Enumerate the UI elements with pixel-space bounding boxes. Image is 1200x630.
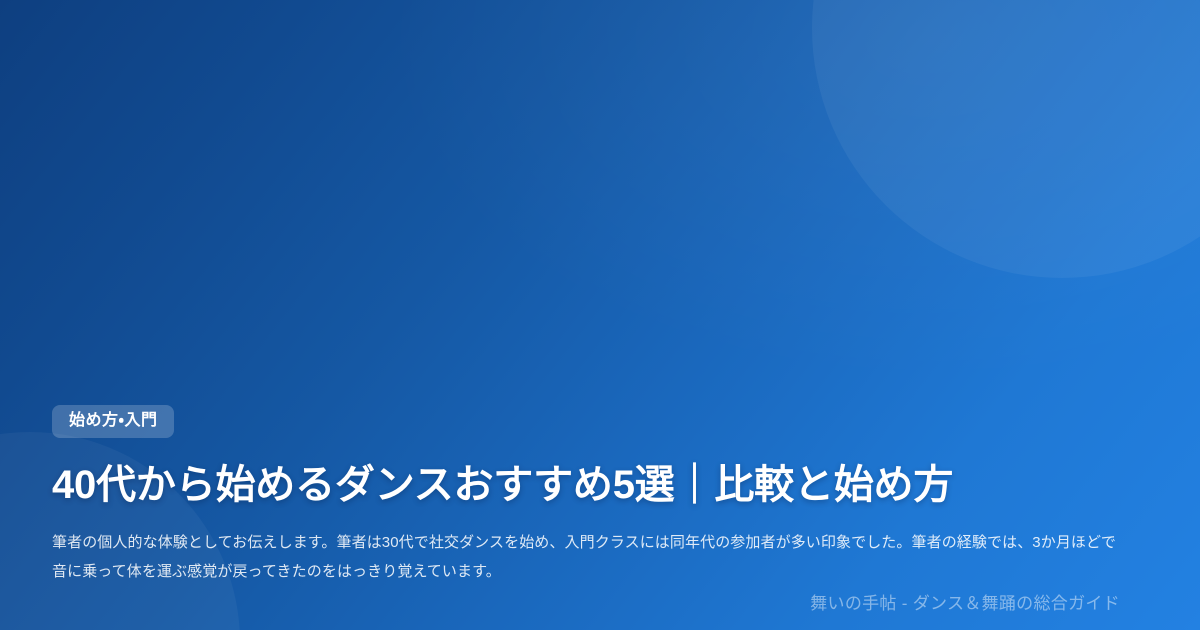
category-badge[interactable]: 始め方・入門 (52, 405, 174, 438)
card-description: 筆者の個人的な体験としてお伝えします。筆者は30代で社交ダンスを始め、入門クラス… (52, 528, 1120, 587)
og-card: 始め方・入門 40代から始めるダンスおすすめ5選｜比較と始め方 筆者の個人的な体… (0, 0, 1200, 630)
page-title: 40代から始めるダンスおすすめ5選｜比較と始め方 (52, 462, 953, 509)
card-content: 始め方・入門 40代から始めるダンスおすすめ5選｜比較と始め方 筆者の個人的な体… (52, 0, 1148, 630)
site-name-footer: 舞いの手帖 - ダンス＆舞踊の総合ガイド (810, 592, 1120, 616)
